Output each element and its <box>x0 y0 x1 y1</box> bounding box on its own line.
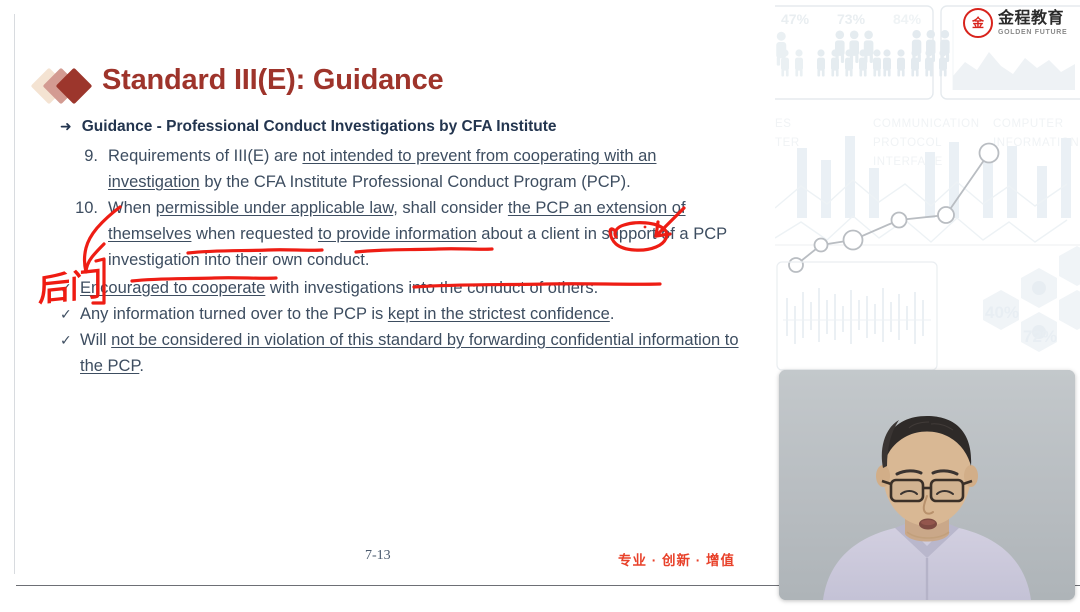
check-item-text: Will not be considered in violation of t… <box>80 327 740 379</box>
checkmark-icon: ✓ <box>60 275 80 301</box>
logo-name-cn: 金程教育 <box>998 11 1067 27</box>
numbered-list-item: 10.When permissible under applicable law… <box>60 195 740 273</box>
check-list-item: ✓Any information turned over to the PCP … <box>60 301 740 327</box>
page-number: 7-13 <box>365 548 391 564</box>
list-item-text: When permissible under applicable law, s… <box>108 195 740 273</box>
text-run: Will <box>80 331 111 349</box>
section-subheading: ➜ Guidance - Professional Conduct Invest… <box>60 118 740 136</box>
page-title: Standard III(E): Guidance <box>102 64 443 97</box>
check-list-item: ✓Encouraged to cooperate with investigat… <box>60 275 740 301</box>
slide-left-border <box>14 14 15 574</box>
arrow-bullet-icon: ➜ <box>60 118 72 136</box>
svg-text:PROTOCOL: PROTOCOL <box>873 137 942 149</box>
slide-body: ➜ Guidance - Professional Conduct Invest… <box>60 118 740 379</box>
emphasized-text-run: not be considered in violation of this s… <box>80 331 739 375</box>
list-item-number: 9. <box>60 143 108 169</box>
text-run: . <box>610 305 615 323</box>
text-run: by the CFA Institute Professional Conduc… <box>200 173 631 191</box>
svg-text:ES: ES <box>775 118 792 130</box>
svg-text:INTERFACE: INTERFACE <box>873 156 943 168</box>
text-run: . <box>139 357 144 375</box>
check-list: ✓Encouraged to cooperate with investigat… <box>60 275 740 379</box>
background-infographic-art: 47% 73% 84% <box>775 0 1080 372</box>
text-run: Any information turned over to the PCP i… <box>80 305 388 323</box>
text-run: with investigations into the conduct of … <box>265 279 598 297</box>
svg-text:40%: 40% <box>985 303 1019 322</box>
checkmark-icon: ✓ <box>60 327 80 353</box>
text-run: , shall consider <box>393 199 508 217</box>
logo-name-en: GOLDEN FUTURE <box>998 29 1067 36</box>
checkmark-icon: ✓ <box>60 301 80 327</box>
svg-text:COMMUNICATION: COMMUNICATION <box>873 118 980 130</box>
svg-text:72%: 72% <box>1023 327 1057 346</box>
svg-text:COMPUTER: COMPUTER <box>993 118 1064 130</box>
svg-text:TER: TER <box>775 137 800 149</box>
svg-text:84%: 84% <box>893 11 922 27</box>
text-run: Requirements of III(E) are <box>108 147 302 165</box>
logo-seal-glyph: 金 <box>972 17 984 29</box>
numbered-list-item: 9.Requirements of III(E) are not intende… <box>60 143 740 195</box>
emphasized-text-run: Encouraged to cooperate <box>80 279 265 297</box>
emphasized-text-run: to provide information <box>318 225 477 243</box>
emphasized-text-run: permissible under applicable law <box>156 199 394 217</box>
text-run: when requested <box>191 225 318 243</box>
list-item-number: 10. <box>60 195 108 221</box>
brand-logo: 金 金程教育 GOLDEN FUTURE <box>963 8 1067 38</box>
numbered-list: 9.Requirements of III(E) are not intende… <box>60 143 740 273</box>
svg-text:INFORMATION: INFORMATION <box>993 137 1079 149</box>
instructor-webcam-frame <box>779 370 1075 600</box>
list-item-text: Requirements of III(E) are not intended … <box>108 143 740 195</box>
logo-text-group: 金程教育 GOLDEN FUTURE <box>998 11 1067 36</box>
svg-text:73%: 73% <box>837 11 866 27</box>
check-item-text: Encouraged to cooperate with investigati… <box>80 275 740 301</box>
logo-seal-icon: 金 <box>963 8 993 38</box>
text-run: When <box>108 199 156 217</box>
instructor-video-panel[interactable] <box>779 370 1075 600</box>
check-item-text: Any information turned over to the PCP i… <box>80 301 740 327</box>
check-list-item: ✓Will not be considered in violation of … <box>60 327 740 379</box>
svg-text:47%: 47% <box>781 11 810 27</box>
emphasized-text-run: kept in the strictest confidence <box>388 305 610 323</box>
brand-tagline: 专业 · 创新 · 增值 <box>618 549 735 569</box>
section-subheading-label: Guidance - Professional Conduct Investig… <box>82 118 557 136</box>
